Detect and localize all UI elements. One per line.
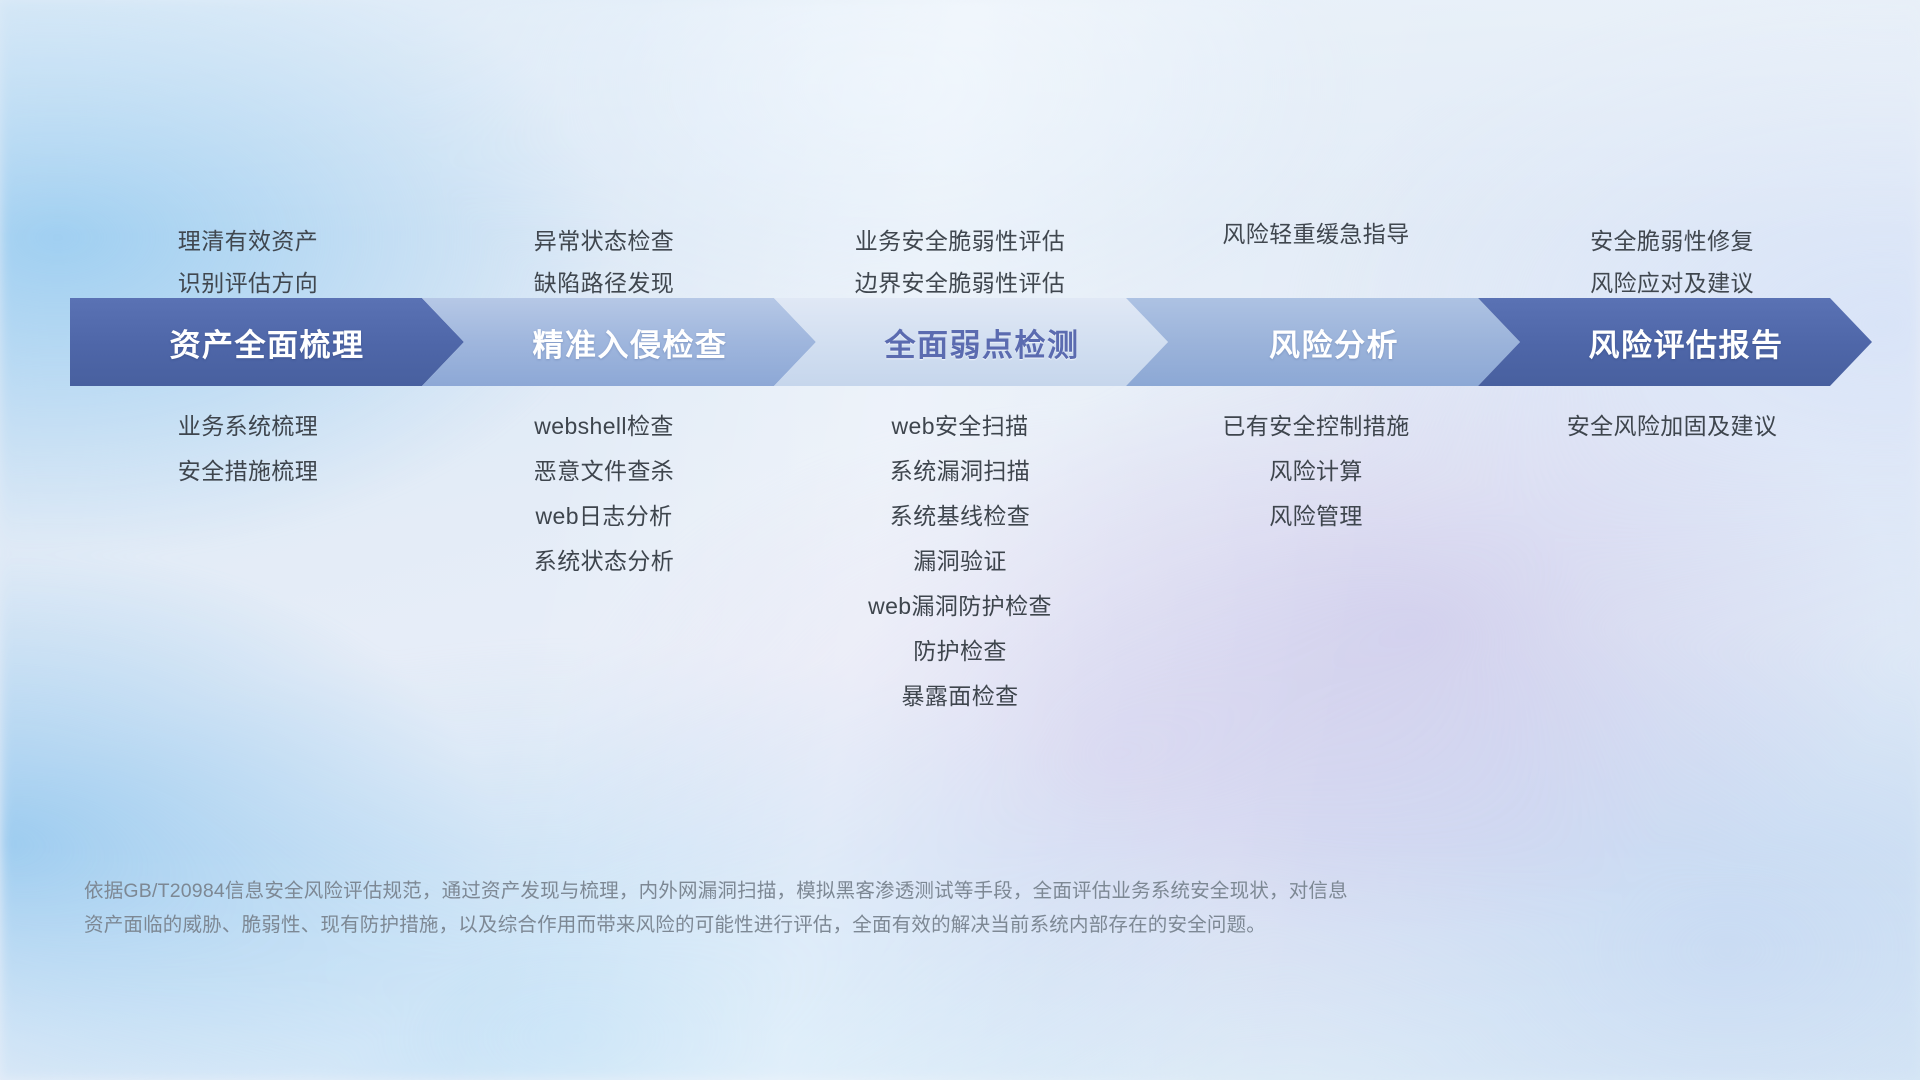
stage-column-4-bottom: 已有安全控制措施 风险计算 风险管理	[1138, 412, 1494, 732]
bottom-item: 恶意文件查杀	[534, 457, 674, 486]
top-item: 安全脆弱性修复	[1590, 227, 1754, 256]
bottom-item: web日志分析	[536, 502, 673, 531]
stage-column-4-top: 风险轻重缓急指导	[1138, 170, 1494, 298]
bottom-item: 安全风险加固及建议	[1567, 412, 1778, 441]
stage-column-2-bottom: webshell检查 恶意文件查杀 web日志分析 系统状态分析	[426, 412, 782, 732]
top-list-2: 异常状态检查 缺陷路径发现	[426, 227, 782, 298]
stage-chevron-label: 精准入侵检查	[422, 320, 816, 365]
stage-column-5-bottom: 安全风险加固及建议	[1494, 412, 1850, 732]
top-item: 缺陷路径发现	[534, 269, 674, 298]
stage-chevron-intrusion-check[interactable]: 精准入侵检查	[422, 298, 816, 386]
top-item: 异常状态检查	[534, 227, 674, 256]
bottom-item: webshell检查	[534, 412, 674, 441]
stage-column-2-top: 异常状态检查 缺陷路径发现	[426, 170, 782, 298]
top-list-3: 业务安全脆弱性评估 边界安全脆弱性评估	[782, 227, 1138, 298]
stage-chevron-band: 资产全面梳理 精准入侵检查 全面弱点检测 风险分析 风险评估报告	[70, 298, 1850, 386]
top-item: 风险轻重缓急指导	[1222, 220, 1409, 249]
top-labels-row: 理清有效资产 识别评估方向 异常状态检查 缺陷路径发现 业务安全脆弱性评估 边界…	[70, 170, 1850, 298]
bottom-list-3: web安全扫描 系统漏洞扫描 系统基线检查 漏洞验证 web漏洞防护检查 防护检…	[782, 412, 1138, 711]
stage-column-1-bottom: 业务系统梳理 安全措施梳理	[70, 412, 426, 732]
bottom-item: 风险管理	[1269, 502, 1363, 531]
top-list-4: 风险轻重缓急指导	[1138, 220, 1494, 249]
stage-column-1-top: 理清有效资产 识别评估方向	[70, 170, 426, 298]
bottom-list-4: 已有安全控制措施 风险计算 风险管理	[1138, 412, 1494, 531]
top-item: 业务安全脆弱性评估	[855, 227, 1066, 256]
stage-chevron-label: 全面弱点检测	[774, 320, 1168, 365]
bottom-item: 安全措施梳理	[178, 457, 318, 486]
bottom-item: web漏洞防护检查	[868, 592, 1052, 621]
stage-column-3-top: 业务安全脆弱性评估 边界安全脆弱性评估	[782, 170, 1138, 298]
footer-line-2: 资产面临的威胁、脆弱性、现有防护措施，以及综合作用而带来风险的可能性进行评估，全…	[84, 909, 1594, 943]
bottom-item: 漏洞验证	[913, 547, 1007, 576]
bottom-list-5: 安全风险加固及建议	[1494, 412, 1850, 441]
bottom-item: 防护检查	[913, 637, 1007, 666]
bottom-item: 已有安全控制措施	[1222, 412, 1409, 441]
bottom-item: 系统漏洞扫描	[890, 457, 1030, 486]
stage-chevron-label: 资产全面梳理	[70, 320, 464, 365]
stage-chevron-asset-inventory[interactable]: 资产全面梳理	[70, 298, 464, 386]
stage-column-5-top: 安全脆弱性修复 风险应对及建议	[1494, 170, 1850, 298]
bottom-item: 系统基线检查	[890, 502, 1030, 531]
bottom-item: 系统状态分析	[534, 547, 674, 576]
top-list-5: 安全脆弱性修复 风险应对及建议	[1494, 227, 1850, 298]
process-flow-diagram: 理清有效资产 识别评估方向 异常状态检查 缺陷路径发现 业务安全脆弱性评估 边界…	[0, 0, 1920, 1080]
top-item: 边界安全脆弱性评估	[855, 269, 1066, 298]
stage-chevron-weakness-detection[interactable]: 全面弱点检测	[774, 298, 1168, 386]
top-item: 风险应对及建议	[1590, 269, 1754, 298]
bottom-labels-row: 业务系统梳理 安全措施梳理 webshell检查 恶意文件查杀 web日志分析 …	[70, 412, 1850, 732]
bottom-item: 业务系统梳理	[178, 412, 318, 441]
bottom-item: 风险计算	[1269, 457, 1363, 486]
top-item: 理清有效资产	[178, 227, 318, 256]
bottom-item: web安全扫描	[892, 412, 1029, 441]
footer-description: 依据GB/T20984信息安全风险评估规范，通过资产发现与梳理，内外网漏洞扫描，…	[84, 875, 1594, 942]
footer-line-1: 依据GB/T20984信息安全风险评估规范，通过资产发现与梳理，内外网漏洞扫描，…	[84, 875, 1594, 909]
stage-column-3-bottom: web安全扫描 系统漏洞扫描 系统基线检查 漏洞验证 web漏洞防护检查 防护检…	[782, 412, 1138, 732]
bottom-item: 暴露面检查	[902, 682, 1019, 711]
stage-chevron-risk-report[interactable]: 风险评估报告	[1478, 298, 1872, 386]
stage-chevron-risk-analysis[interactable]: 风险分析	[1126, 298, 1520, 386]
bottom-list-2: webshell检查 恶意文件查杀 web日志分析 系统状态分析	[426, 412, 782, 576]
stage-chevron-label: 风险分析	[1126, 320, 1520, 365]
top-list-1: 理清有效资产 识别评估方向	[70, 227, 426, 298]
bottom-list-1: 业务系统梳理 安全措施梳理	[70, 412, 426, 486]
stage-chevron-label: 风险评估报告	[1478, 320, 1872, 365]
top-item: 识别评估方向	[178, 269, 318, 298]
